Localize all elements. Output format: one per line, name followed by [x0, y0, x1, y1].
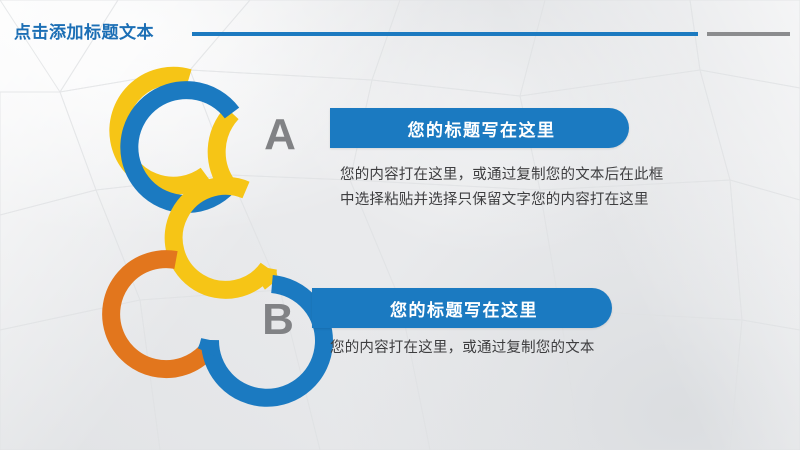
yellow-arc-a-overlap — [217, 113, 232, 186]
slide-canvas: 点击添加标题文本 A B 您的标题写在这里 您的内容打在这里，或通过复制您的文本… — [0, 0, 800, 450]
ring-chain-graphic — [0, 0, 800, 450]
yellow-arc-b-overlap — [268, 268, 272, 284]
section-letter-a: A — [255, 113, 305, 157]
section-letter-b: B — [253, 298, 303, 342]
blue-arc-b-joint — [206, 340, 210, 352]
section-body-a[interactable]: 您的内容打在这里，或通过复制您的文本后在此框中选择粘贴并选择只保留文字您的内容打… — [340, 163, 675, 213]
section-heading-banner-a[interactable]: 您的标题写在这里 — [330, 108, 629, 148]
section-heading-banner-b[interactable]: 您的标题写在这里 — [312, 288, 612, 328]
section-body-b[interactable]: 您的内容打在这里，或通过复制您的文本 — [330, 336, 675, 361]
